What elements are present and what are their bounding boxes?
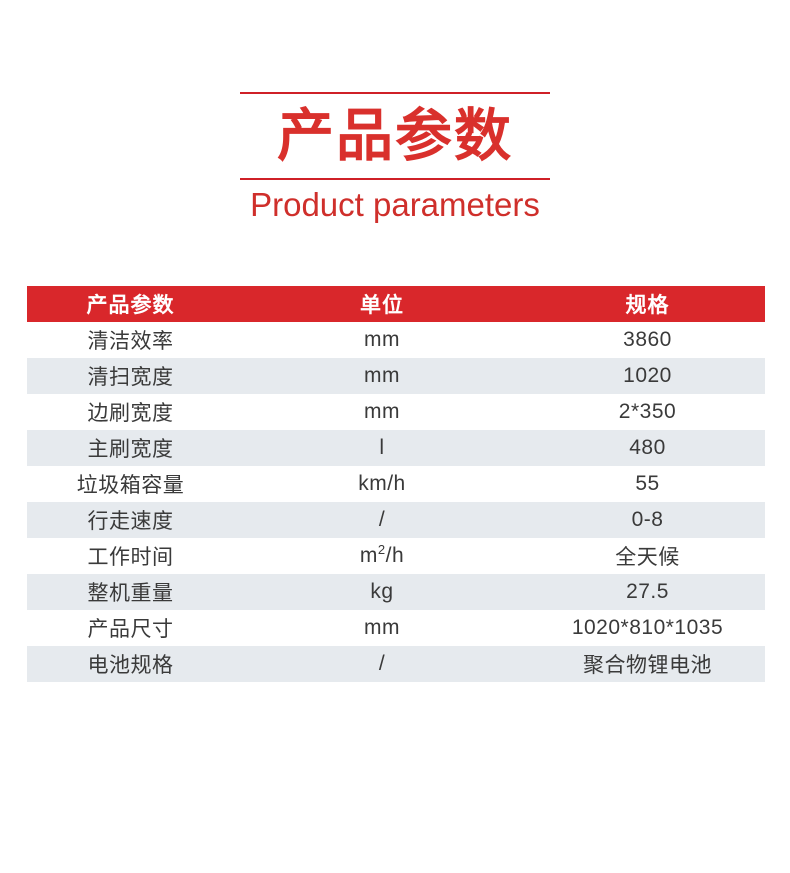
cell-unit: / (234, 646, 530, 682)
specifications-table: 产品参数 单位 规格 清洁效率mm3860清扫宽度mm1020边刷宽度mm2*3… (27, 286, 765, 682)
table-header: 产品参数 单位 规格 (27, 286, 765, 322)
cell-param: 产品尺寸 (27, 610, 234, 646)
cell-unit: / (234, 502, 530, 538)
page-title-en: Product parameters (240, 182, 550, 228)
cell-spec: 全天候 (530, 538, 765, 574)
page-title-block: 产品参数 Product parameters (240, 92, 550, 228)
table-body: 清洁效率mm3860清扫宽度mm1020边刷宽度mm2*350主刷宽度l480垃… (27, 322, 765, 682)
cell-spec: 3860 (530, 322, 765, 358)
cell-unit: mm (234, 610, 530, 646)
cell-spec: 1020 (530, 358, 765, 394)
cell-unit: mm (234, 322, 530, 358)
cell-param: 垃圾箱容量 (27, 466, 234, 502)
cell-param: 边刷宽度 (27, 394, 234, 430)
cell-spec: 480 (530, 430, 765, 466)
cell-unit: mm (234, 358, 530, 394)
cell-param: 清扫宽度 (27, 358, 234, 394)
table-row: 主刷宽度l480 (27, 430, 765, 466)
cell-spec: 1020*810*1035 (530, 610, 765, 646)
cell-spec: 2*350 (530, 394, 765, 430)
cell-param: 工作时间 (27, 538, 234, 574)
table-row: 电池规格/聚合物锂电池 (27, 646, 765, 682)
cell-spec: 0-8 (530, 502, 765, 538)
cell-param: 整机重量 (27, 574, 234, 610)
cell-param: 行走速度 (27, 502, 234, 538)
cell-unit: mm (234, 394, 530, 430)
cell-spec: 聚合物锂电池 (530, 646, 765, 682)
table-row: 行走速度/0-8 (27, 502, 765, 538)
cell-unit: km/h (234, 466, 530, 502)
cell-param: 主刷宽度 (27, 430, 234, 466)
cell-unit: kg (234, 574, 530, 610)
product-parameters-page: 产品参数 Product parameters 产品参数 单位 规格 清洁效率m… (0, 0, 790, 873)
table-row: 垃圾箱容量km/h55 (27, 466, 765, 502)
title-rule-top (240, 92, 550, 94)
column-header-param: 产品参数 (27, 286, 234, 322)
table-row: 清扫宽度mm1020 (27, 358, 765, 394)
title-rule-bottom (240, 178, 550, 180)
cell-spec: 55 (530, 466, 765, 502)
cell-spec: 27.5 (530, 574, 765, 610)
column-header-spec: 规格 (530, 286, 765, 322)
cell-unit: m2/h (234, 538, 530, 574)
table-header-row: 产品参数 单位 规格 (27, 286, 765, 322)
table-row: 清洁效率mm3860 (27, 322, 765, 358)
page-title-cn: 产品参数 (240, 97, 550, 175)
cell-unit: l (234, 430, 530, 466)
column-header-unit: 单位 (234, 286, 530, 322)
table-row: 产品尺寸mm1020*810*1035 (27, 610, 765, 646)
cell-param: 清洁效率 (27, 322, 234, 358)
table-row: 工作时间m2/h全天候 (27, 538, 765, 574)
table-row: 整机重量kg27.5 (27, 574, 765, 610)
cell-param: 电池规格 (27, 646, 234, 682)
table-row: 边刷宽度mm2*350 (27, 394, 765, 430)
unit-exponent: 2 (378, 542, 386, 557)
